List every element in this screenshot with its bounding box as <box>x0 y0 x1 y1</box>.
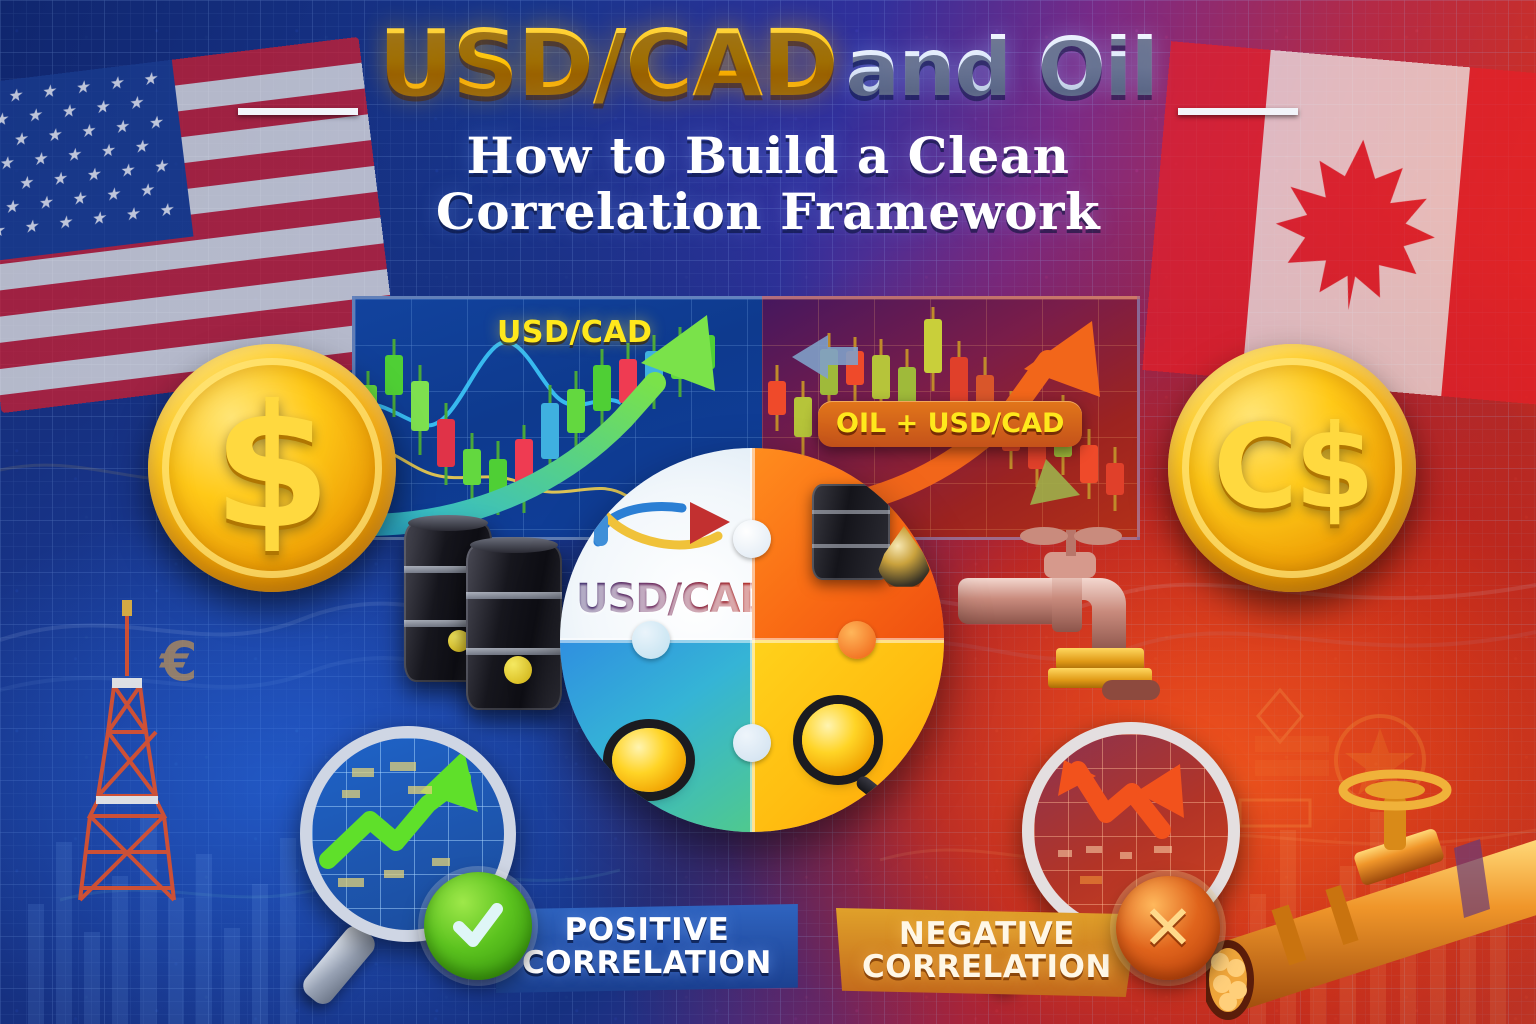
panel-badge-oil-usdcad: OIL + USD/CAD <box>818 401 1082 447</box>
lens-icon-blue <box>612 728 686 792</box>
subtitle-line-2: Correlation Framework <box>0 184 1536 240</box>
panel-label-usdcad: USD/CAD <box>497 315 652 350</box>
page-subtitle: How to Build a Clean Correlation Framewo… <box>0 128 1536 240</box>
oil-barrel-front <box>466 544 562 710</box>
magnifier-handle <box>854 774 908 821</box>
poster-canvas: ★★★ ★★★ ★★★ ★★ ★★★ ★★★ ★★★ ★★ ★★★ ★★★ ★★… <box>0 0 1536 1024</box>
title-rule-left <box>238 108 358 115</box>
puzzle-knob-top <box>733 520 771 558</box>
negative-correlation-label: NEGATIVE CORRELATION <box>836 908 1138 997</box>
cad-coin-symbol: C$ <box>1213 410 1371 526</box>
positive-correlation-line1: POSITIVE <box>522 914 772 947</box>
puzzle-quadrant-magnifier[interactable] <box>752 640 944 832</box>
puzzle-knob-right <box>838 621 876 659</box>
puzzle-knob-bottom <box>733 724 771 762</box>
puzzle-usdcad-label: USD/CAD <box>576 576 752 622</box>
oil-barrel-icon <box>812 484 890 580</box>
subtitle-line-1: How to Build a Clean <box>0 128 1536 184</box>
check-icon <box>447 895 509 957</box>
usd-coin-symbol: $ <box>213 383 331 553</box>
pipe-valve <box>952 522 1162 702</box>
negative-correlation-line1: NEGATIVE <box>862 918 1112 951</box>
cycle-arrow-icon <box>590 496 740 570</box>
positive-correlation-line2: CORRELATION <box>522 947 772 980</box>
magnifier-icon-yellow <box>802 704 874 776</box>
positive-check-badge <box>424 872 532 980</box>
tokyo-tower <box>52 600 202 930</box>
puzzle-quadrant-usdcad[interactable]: USD/CAD <box>560 448 752 640</box>
title-gold-text: USD/CAD <box>379 10 846 117</box>
puzzle-knob-left <box>632 621 670 659</box>
negative-correlation-line2: CORRELATION <box>862 951 1112 984</box>
positive-correlation-label: POSITIVE CORRELATION <box>496 904 798 993</box>
cross-icon: ✕ <box>1142 897 1194 959</box>
puzzle-quadrant-analysis[interactable] <box>560 640 752 832</box>
title-block: USD/CADand Oil How to Build a Clean Corr… <box>0 18 1536 240</box>
usd-coin: $ <box>148 344 396 592</box>
puzzle-divider-horizontal <box>560 638 944 643</box>
title-rule-right <box>1178 108 1298 115</box>
negative-cross-badge: ✕ <box>1116 876 1220 980</box>
title-white-text: and Oil <box>846 21 1158 114</box>
cad-coin: C$ <box>1168 344 1416 592</box>
puzzle-quadrant-oil[interactable] <box>752 448 944 640</box>
page-title: USD/CADand Oil <box>379 18 1158 110</box>
correlation-puzzle[interactable]: USD/CAD <box>560 448 944 832</box>
